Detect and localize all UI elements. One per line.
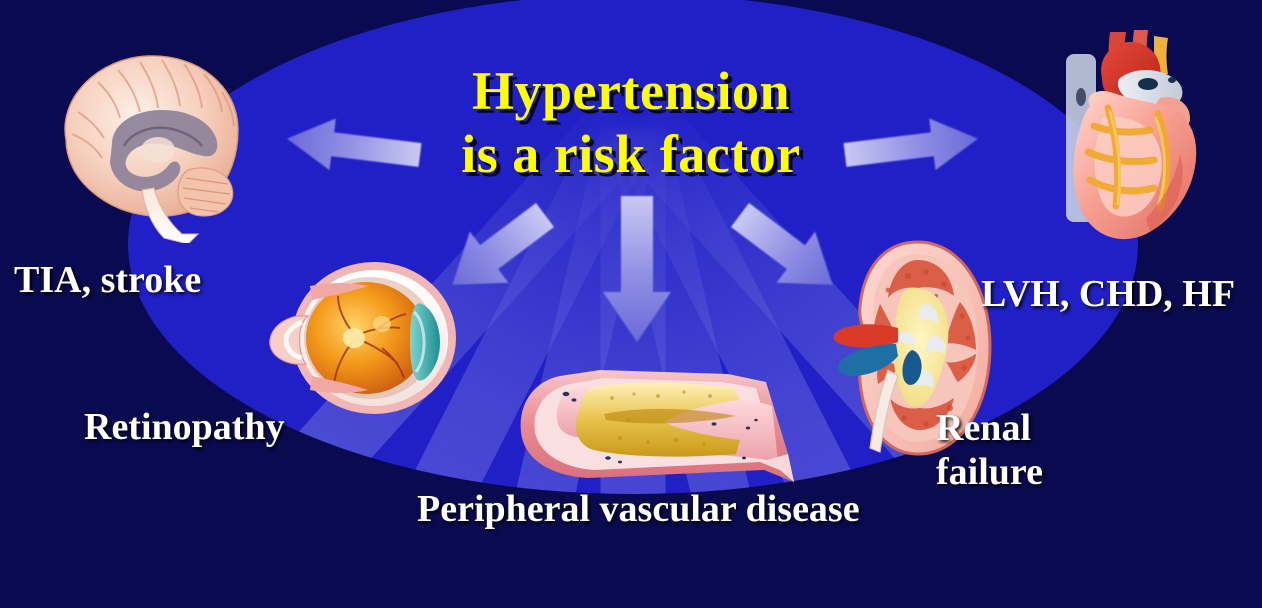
- arrow-to-artery: [603, 196, 671, 342]
- label-lvh-chd-hf: LVH, CHD, HF: [981, 272, 1241, 316]
- heart-illustration: [1050, 22, 1210, 257]
- arrow-to-heart: [842, 113, 981, 181]
- eye-illustration: [264, 252, 464, 424]
- label-retinopathy: Retinopathy: [84, 405, 285, 449]
- label-peripheral-vascular-disease: Peripheral vascular disease: [417, 487, 877, 531]
- slide-canvas: Hypertension is a risk factor TIA, strok…: [0, 0, 1262, 608]
- label-renal-failure: Renal failure: [936, 406, 1136, 495]
- label-tia-stroke: TIA, stroke: [14, 258, 201, 302]
- artery-plaque-illustration: [508, 358, 804, 490]
- arrow-to-brain: [284, 113, 423, 181]
- brain-illustration: [38, 38, 253, 243]
